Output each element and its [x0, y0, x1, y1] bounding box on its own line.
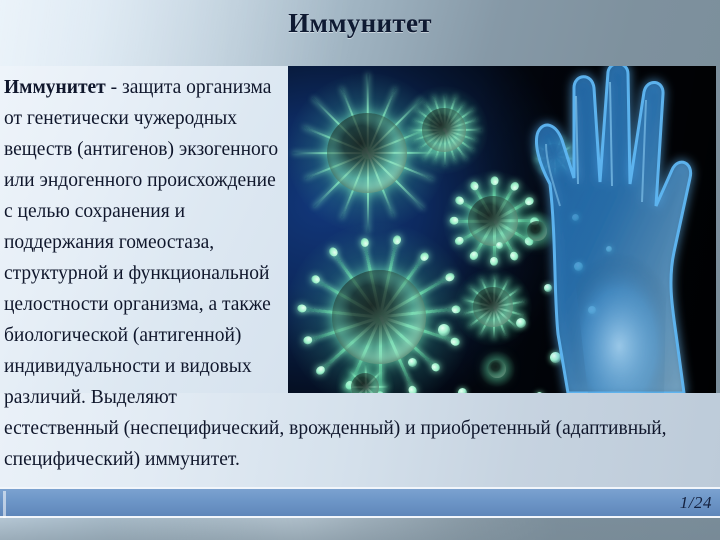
footer-band-content: 1/24: [0, 489, 720, 516]
virus-core: [332, 270, 426, 364]
slide-title: Иммунитет: [0, 8, 720, 39]
virus-speck: [408, 358, 417, 367]
illustration-figure: [288, 66, 716, 393]
page-number: 1/24: [680, 493, 712, 513]
virus-speck: [458, 388, 467, 393]
virus-core: [327, 113, 407, 193]
presentation-slide: Иммунитет: [0, 0, 720, 540]
glowing-blue-hand: [476, 66, 716, 393]
green-virus-particle-small: [344, 366, 386, 393]
virus-core: [422, 108, 466, 152]
slide-body-text: Иммунитет - защита организма от генетиче…: [0, 66, 716, 475]
slide-footer-band: 1/24: [0, 487, 720, 518]
virus-speck: [438, 324, 450, 336]
illustration-image: [288, 66, 716, 393]
lead-term: Иммунитет: [4, 77, 106, 98]
green-virus-particle-fuzzy: [412, 98, 476, 162]
